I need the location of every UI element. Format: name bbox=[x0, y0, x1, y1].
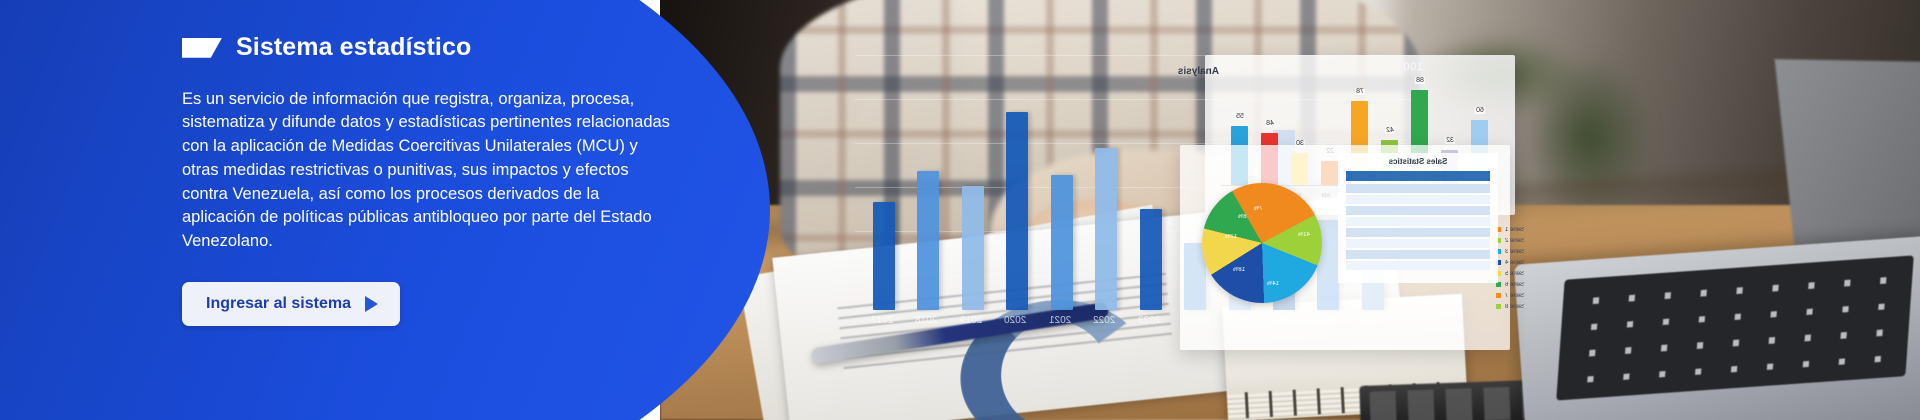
overlay-bar-x-label: 2018 bbox=[915, 315, 937, 326]
flag-icon bbox=[182, 38, 222, 58]
overlay-legend-item: Serie 8 bbox=[1496, 304, 1524, 310]
page-title: Sistema estadístico bbox=[236, 34, 471, 62]
overlay-card-bar-value: 48 bbox=[1265, 120, 1275, 127]
overlay-bar bbox=[873, 202, 895, 310]
overlay-legend-item: Serie 2 bbox=[1496, 238, 1524, 244]
overlay-table-header bbox=[1346, 171, 1490, 181]
overlay-card-bar-value: 60 bbox=[1475, 107, 1485, 114]
overlay-bar bbox=[917, 171, 939, 311]
overlay-pie-card: 41%14%18%12%8%7% Serie 1Serie 2Serie 3Se… bbox=[1180, 145, 1510, 350]
overlay-table-row bbox=[1346, 250, 1490, 259]
overlay-table-row bbox=[1346, 184, 1490, 193]
overlay-bar bbox=[1051, 175, 1073, 310]
overlay-bar-x-label: 2023 bbox=[1138, 315, 1160, 326]
overlay-pie-chart bbox=[1202, 183, 1322, 303]
banner-photo: 2017201820192020202120222023202420252026… bbox=[660, 0, 1920, 420]
photo-laptop-keyboard bbox=[1556, 255, 1914, 400]
overlay-table-row bbox=[1346, 206, 1490, 215]
overlay-legend-item: Serie 7 bbox=[1496, 293, 1524, 299]
overlay-table-row bbox=[1346, 261, 1490, 270]
overlay-table-row bbox=[1346, 195, 1490, 204]
overlay-legend-swatch bbox=[1496, 304, 1501, 309]
overlay-table-row bbox=[1346, 239, 1490, 248]
overlay-table-title: Sales Statistics bbox=[1338, 157, 1498, 166]
banner-content: Sistema estadístico Es un servicio de in… bbox=[182, 34, 682, 326]
overlay-bar-x-label: 2021 bbox=[1049, 315, 1071, 326]
overlay-pie-slice-label: 41% bbox=[1298, 232, 1310, 238]
overlay-pie-slice-label: 12% bbox=[1225, 234, 1237, 240]
overlay-card-bar-value: 88 bbox=[1415, 77, 1425, 84]
banner-description: Es un servicio de información que regist… bbox=[182, 88, 674, 255]
overlay-pie-slice-label: 18% bbox=[1233, 267, 1245, 273]
play-arrow-icon bbox=[365, 296, 378, 312]
overlay-card-bar-value: 55 bbox=[1235, 113, 1245, 120]
overlay-card-chart-title: Analysis bbox=[1178, 66, 1219, 77]
overlay-pie-slice-label: 7% bbox=[1254, 206, 1263, 212]
overlay-card-bar-value: 78 bbox=[1355, 88, 1365, 95]
overlay-bar-x-label: 2022 bbox=[1093, 315, 1115, 326]
overlay-card-bar-value: 42 bbox=[1385, 127, 1395, 134]
overlay-bar bbox=[1006, 112, 1028, 310]
overlay-bar-x-label: 2020 bbox=[1004, 315, 1026, 326]
overlay-bar-x-label: 2017 bbox=[871, 315, 893, 326]
hero-banner: 2017201820192020202120222023202420252026… bbox=[0, 0, 1920, 420]
ingresar-al-sistema-button[interactable]: Ingresar al sistema bbox=[182, 282, 400, 326]
overlay-legend-item: Serie 3 bbox=[1496, 249, 1524, 255]
overlay-pie-slice-label: 14% bbox=[1267, 281, 1279, 287]
overlay-legend-item: Serie 4 bbox=[1496, 260, 1524, 266]
overlay-bar-x-label: 2019 bbox=[960, 315, 982, 326]
overlay-legend-swatch bbox=[1496, 293, 1501, 298]
cta-label: Ingresar al sistema bbox=[206, 295, 351, 313]
overlay-bar bbox=[962, 186, 984, 310]
banner-title-row: Sistema estadístico bbox=[182, 34, 682, 62]
overlay-legend-item: Serie 5 bbox=[1496, 271, 1524, 277]
overlay-legend-item: Serie 1 bbox=[1496, 227, 1524, 233]
overlay-legend-item: Serie 6 bbox=[1496, 282, 1524, 288]
overlay-card-bar-value: 32 bbox=[1445, 137, 1455, 144]
overlay-data-table: Sales Statistics bbox=[1338, 153, 1498, 283]
overlay-pie-slice-label: 8% bbox=[1238, 214, 1247, 220]
overlay-bar bbox=[1140, 209, 1162, 310]
overlay-table-row bbox=[1346, 228, 1490, 237]
overlay-table-row bbox=[1346, 217, 1490, 226]
overlay-bar bbox=[1095, 148, 1117, 310]
